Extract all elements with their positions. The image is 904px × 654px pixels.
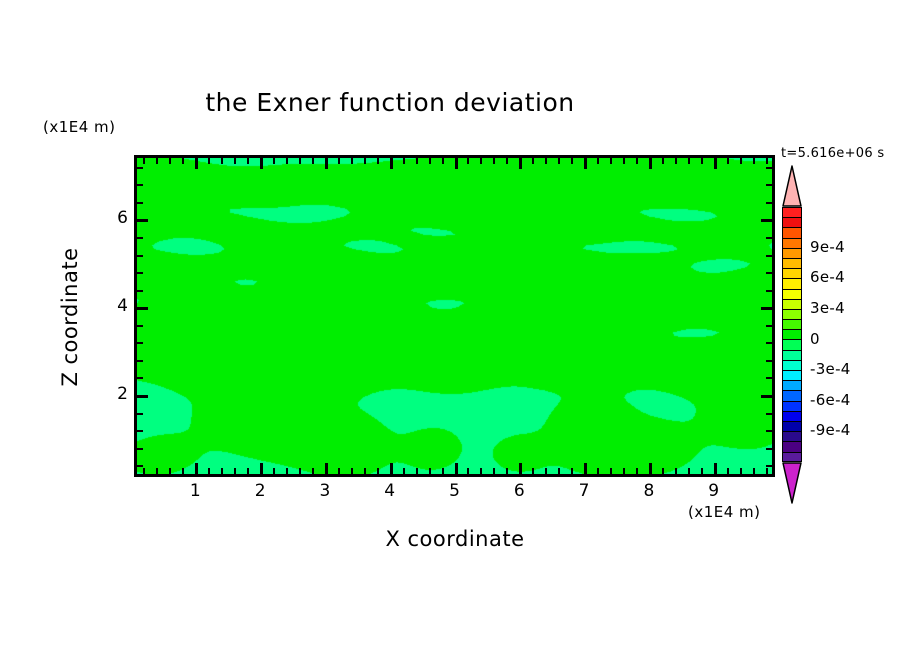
colorbar-label: 3e-4 — [810, 299, 845, 317]
colorbar-label: -9e-4 — [810, 421, 851, 439]
colorbar-top-arrow-icon — [782, 165, 802, 207]
colorbar — [782, 207, 802, 462]
y-tick-label: 6 — [88, 208, 128, 228]
colorbar-band — [782, 207, 802, 217]
y-axis-title: Z coordinate — [58, 217, 82, 417]
colorbar-band — [782, 248, 802, 258]
page-title: the Exner function deviation — [0, 88, 780, 117]
x-tick-label: 8 — [629, 481, 669, 501]
x-tick-label: 5 — [435, 481, 475, 501]
x-tick-label: 6 — [499, 481, 539, 501]
colorbar-label: -3e-4 — [810, 360, 851, 378]
colorbar-band — [782, 238, 802, 248]
y-tick-label: 4 — [88, 296, 128, 316]
contour-plot-area — [134, 155, 775, 477]
colorbar-band — [782, 421, 802, 431]
colorbar-band — [782, 329, 802, 339]
colorbar-band — [782, 370, 802, 380]
y-tick-label: 2 — [88, 384, 128, 404]
colorbar-band — [782, 452, 802, 462]
x-tick-label: 4 — [370, 481, 410, 501]
colorbar-band — [782, 401, 802, 411]
colorbar-band — [782, 258, 802, 268]
colorbar-label: 0 — [810, 330, 820, 348]
x-axis-unit-label: (x1E4 m) — [688, 503, 761, 521]
x-tick-label: 9 — [694, 481, 734, 501]
colorbar-band — [782, 350, 802, 360]
x-axis-title: X coordinate — [0, 527, 904, 551]
colorbar-band — [782, 309, 802, 319]
colorbar-label: -6e-4 — [810, 391, 851, 409]
y-axis-unit-label: (x1E4 m) — [43, 118, 116, 136]
x-tick-label: 2 — [240, 481, 280, 501]
colorbar-band — [782, 217, 802, 227]
colorbar-band — [782, 431, 802, 441]
colorbar-label: 9e-4 — [810, 238, 845, 256]
colorbar-label: 6e-4 — [810, 268, 845, 286]
x-tick-label: 3 — [305, 481, 345, 501]
colorbar-band — [782, 390, 802, 400]
colorbar-band — [782, 278, 802, 288]
colorbar-bottom-arrow-icon — [782, 462, 802, 504]
x-tick-label: 1 — [175, 481, 215, 501]
colorbar-band — [782, 441, 802, 451]
colorbar-band — [782, 319, 802, 329]
colorbar-band — [782, 299, 802, 309]
colorbar-band — [782, 360, 802, 370]
colorbar-band — [782, 268, 802, 278]
x-tick-label: 7 — [564, 481, 604, 501]
colorbar-band — [782, 411, 802, 421]
colorbar-band — [782, 380, 802, 390]
colorbar-band — [782, 339, 802, 349]
colorbar-band — [782, 289, 802, 299]
colorbar-band — [782, 227, 802, 237]
timestamp-annotation: t=5.616e+06 s — [781, 146, 884, 161]
contour-field — [137, 158, 772, 474]
